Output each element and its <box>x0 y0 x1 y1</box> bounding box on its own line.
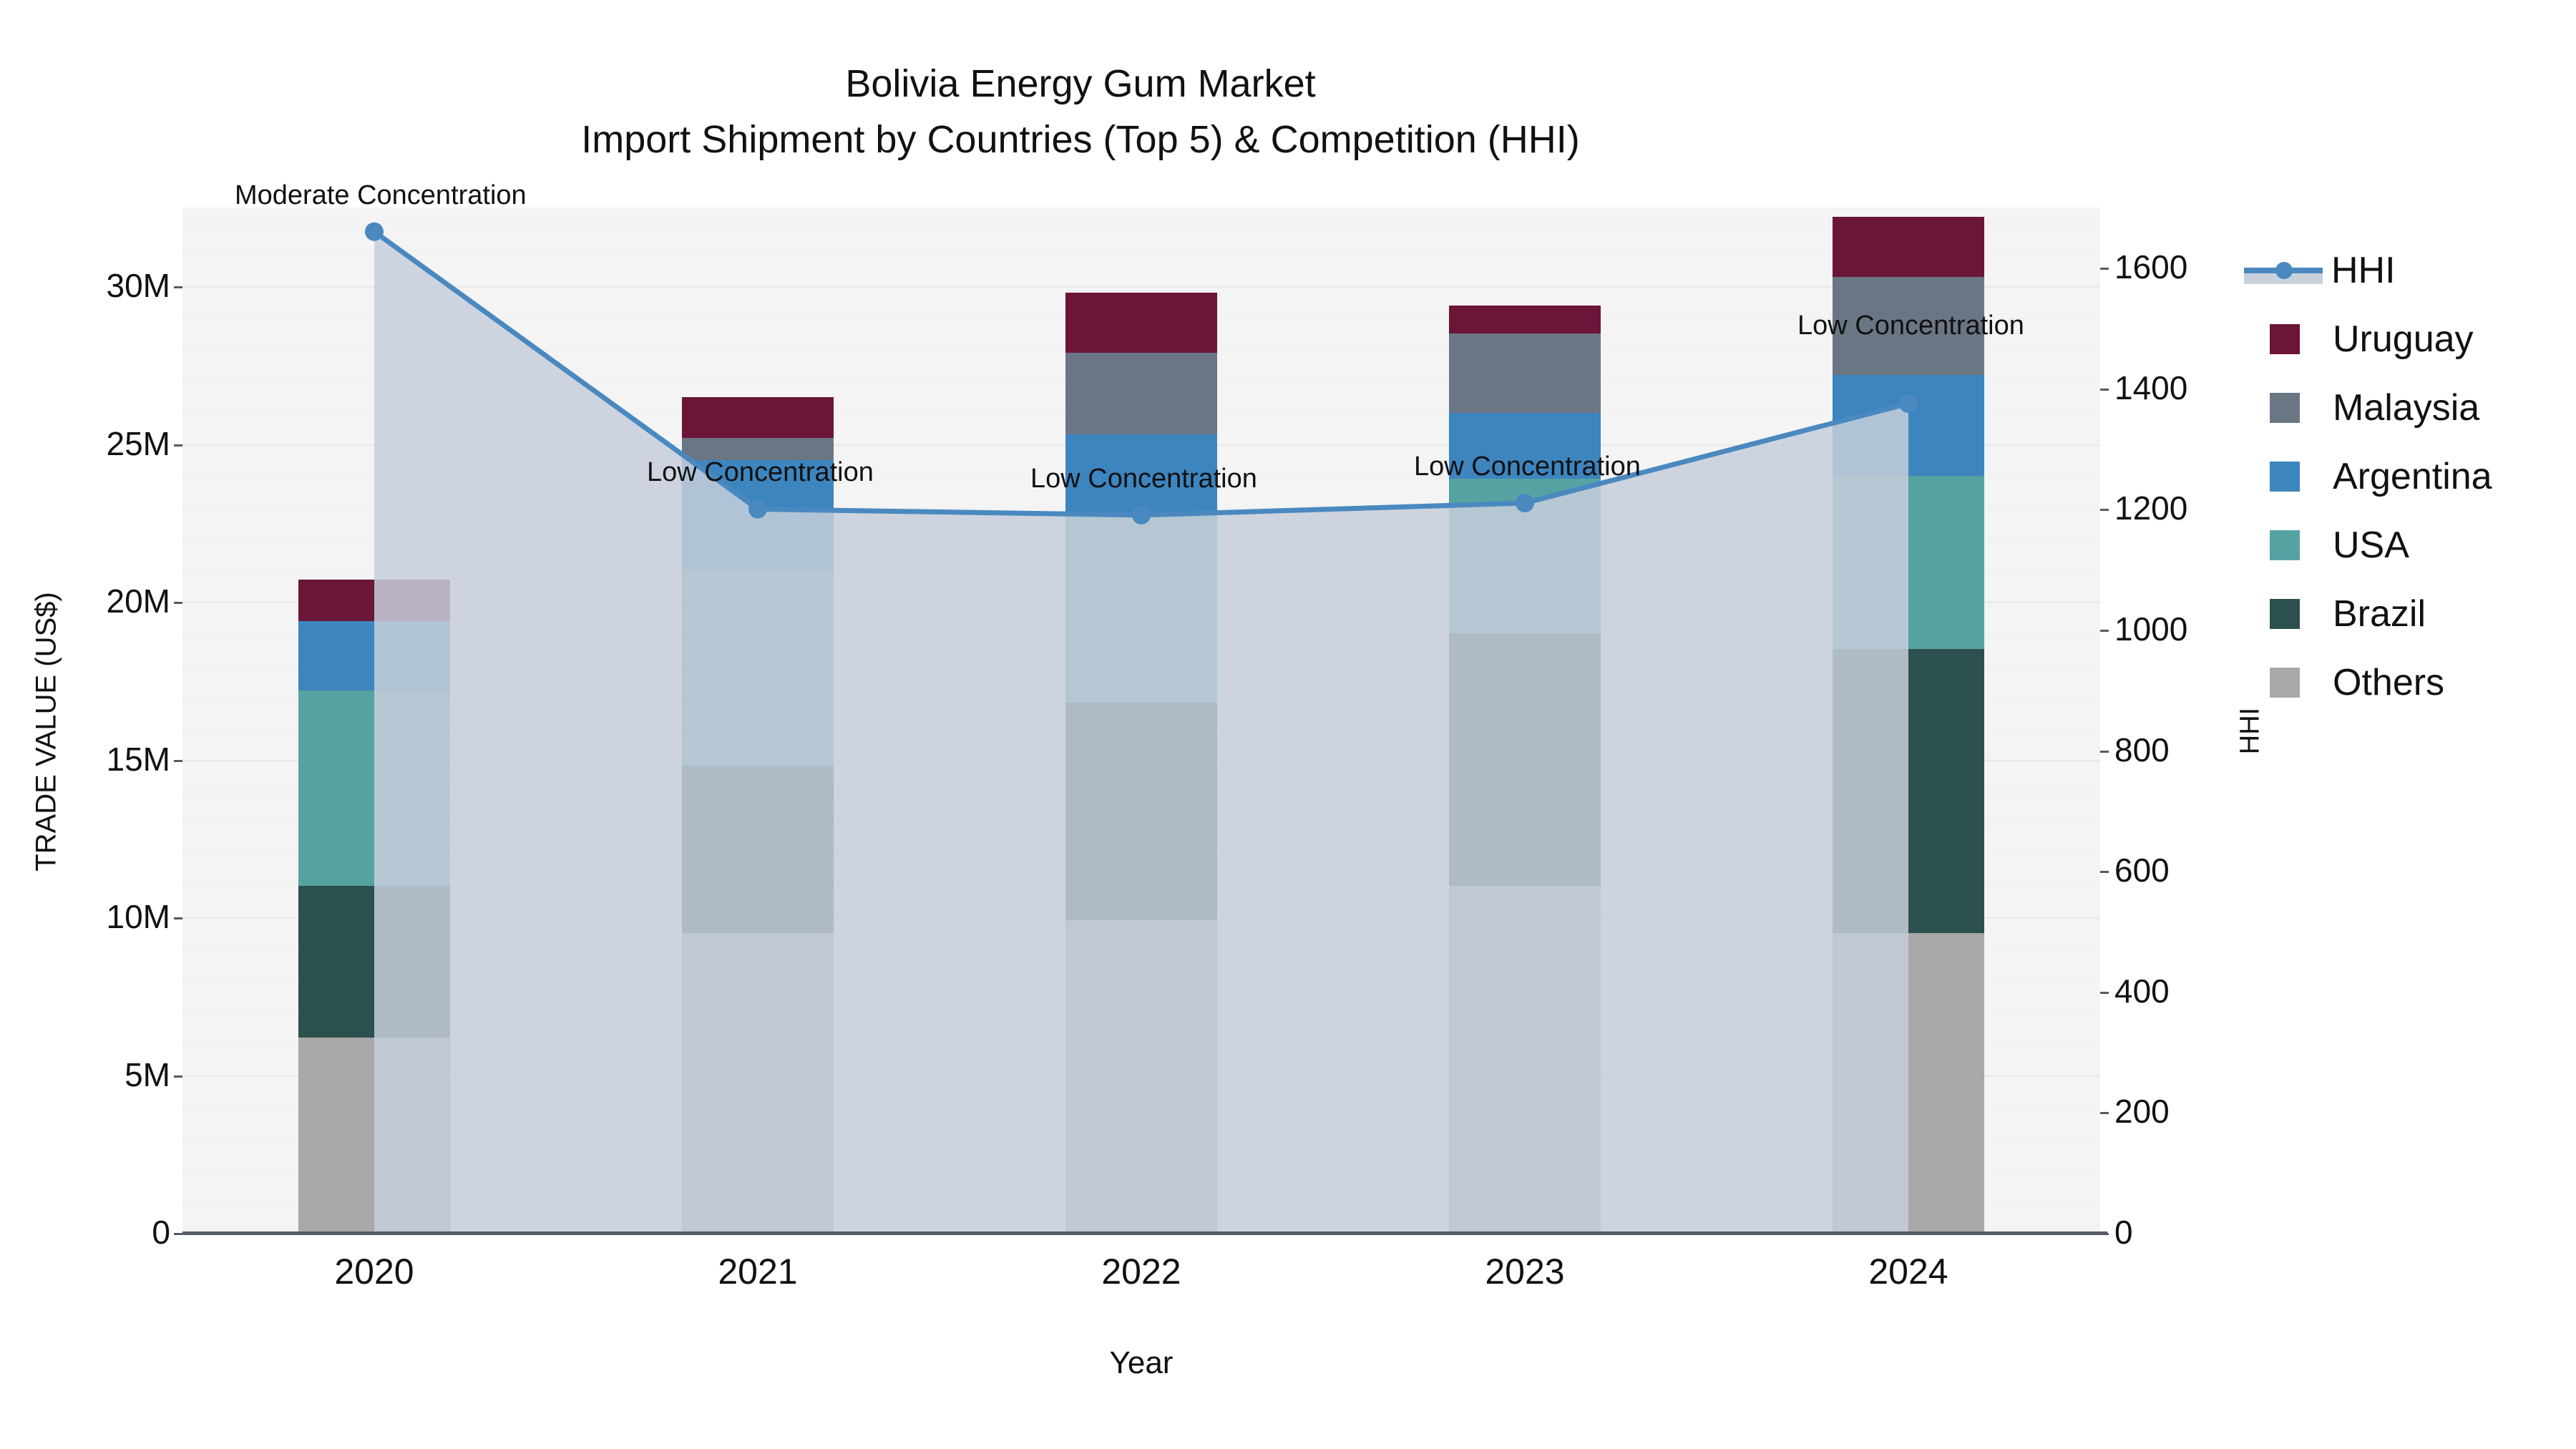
annotation-2021: Low Concentration <box>647 457 874 488</box>
legend-item-uruguay[interactable]: Uruguay <box>2254 305 2569 374</box>
legend-swatch-icon <box>2270 324 2300 354</box>
annotation-2023: Low Concentration <box>1414 452 1641 482</box>
annotation-2022: Low Concentration <box>1030 464 1257 494</box>
legend-label: USA <box>2333 524 2409 567</box>
annotation-2024: Low Concentration <box>1797 311 2024 341</box>
legend-swatch-icon <box>2270 393 2300 423</box>
legend-item-others[interactable]: Others <box>2254 648 2569 717</box>
y-axis-left-title: TRADE VALUE (US$) <box>31 482 63 982</box>
legend-line-icon <box>2244 255 2323 286</box>
legend-swatch-icon <box>2270 462 2300 492</box>
legend-swatch-icon <box>2270 668 2300 698</box>
legend-item-usa[interactable]: USA <box>2254 511 2569 580</box>
legend-label: Others <box>2333 661 2444 704</box>
x-axis-title: Year <box>182 1345 2100 1381</box>
legend-item-hhi[interactable]: HHI <box>2254 236 2569 305</box>
chart-root: Bolivia Energy Gum Market Import Shipmen… <box>0 0 2576 1449</box>
annotation-2020: Moderate Concentration <box>235 180 527 211</box>
legend-label: Brazil <box>2333 592 2426 635</box>
legend-swatch-icon <box>2270 599 2300 629</box>
legend-item-malaysia[interactable]: Malaysia <box>2254 374 2569 442</box>
legend-item-argentina[interactable]: Argentina <box>2254 442 2569 511</box>
annotations-layer: Moderate ConcentrationLow ConcentrationL… <box>0 0 2576 1449</box>
legend-label: HHI <box>2331 249 2396 292</box>
legend-label: Malaysia <box>2333 386 2479 429</box>
legend-swatch-icon <box>2270 530 2300 560</box>
chart-legend: HHIUruguayMalaysiaArgentinaUSABrazilOthe… <box>2254 236 2569 717</box>
legend-item-brazil[interactable]: Brazil <box>2254 580 2569 648</box>
legend-label: Argentina <box>2333 455 2492 498</box>
legend-label: Uruguay <box>2333 318 2474 361</box>
